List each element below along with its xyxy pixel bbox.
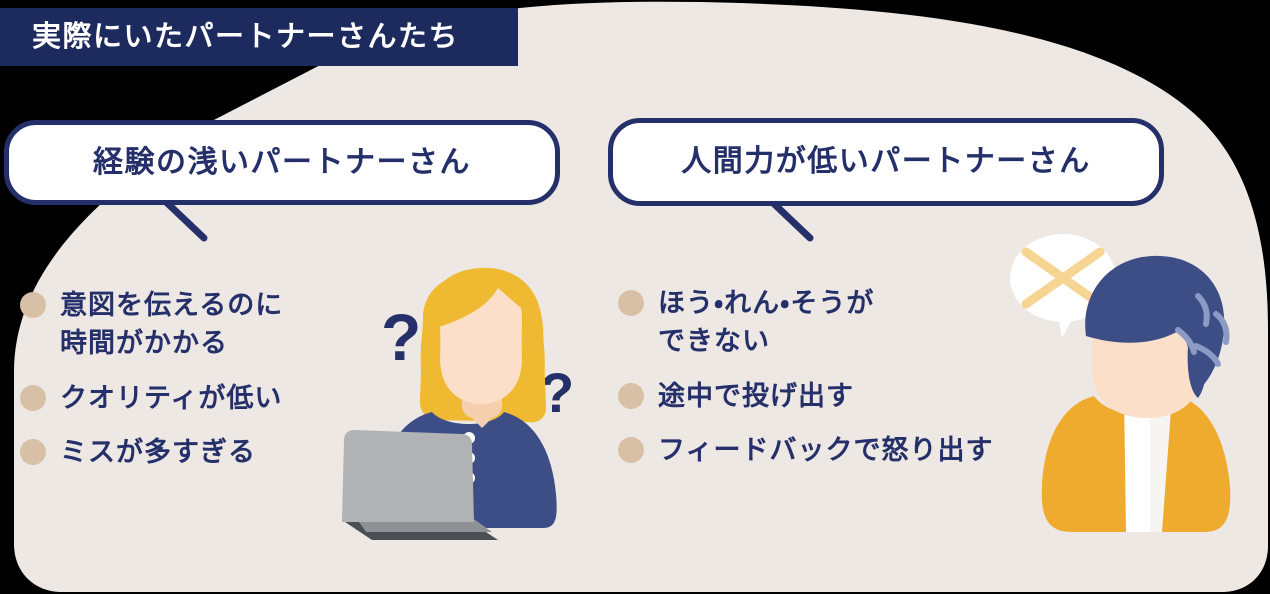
bullet-dot-icon <box>618 290 644 316</box>
list-item-text: ミスが多すぎる <box>60 433 256 471</box>
list-item-line: クオリティが低い <box>60 383 282 413</box>
list-item: フィードバックで怒り出す <box>618 431 1068 469</box>
bullet-list-right: ほう・れん・そうが できない 途中で投げ出す フィードバックで怒り出す <box>618 284 1068 485</box>
bullet-dot-icon <box>20 385 46 411</box>
bullet-list-left: 意図を伝えるのに 時間がかかる クオリティが低い ミスが多すぎる <box>20 286 350 487</box>
list-item-text: フィードバックで怒り出す <box>658 431 993 469</box>
list-item: ミスが多すぎる <box>20 433 350 471</box>
list-item-line: ミスが多すぎる <box>60 437 256 467</box>
bullet-dot-icon <box>618 437 644 463</box>
list-item-line: できない <box>658 322 874 360</box>
column-header-label: 人間力が低いパートナーさん <box>681 147 1091 177</box>
bullet-dot-icon <box>20 292 46 318</box>
bullet-dot-icon <box>20 439 46 465</box>
list-item: ほう・れん・そうが できない <box>618 284 1068 361</box>
list-item-line: フィードバックで怒り出す <box>658 435 993 465</box>
slide-canvas: ? ? <box>0 0 1270 594</box>
page-title: 実際にいたパートナーさんたち <box>0 23 459 52</box>
list-item: 途中で投げ出す <box>618 377 1068 415</box>
list-item-text: ほう・れん・そうが できない <box>658 284 874 361</box>
list-item-text: 途中で投げ出す <box>658 377 854 415</box>
column-header-bubble-right: 人間力が低いパートナーさん <box>608 118 1164 206</box>
list-item: 意図を伝えるのに 時間がかかる <box>20 286 350 363</box>
column-header-label: 経験の浅いパートナーさん <box>93 148 471 178</box>
list-item-line: ほう・れん・そうが <box>658 288 874 318</box>
list-item-line: 意図を伝えるのに <box>60 290 283 320</box>
list-item-line: 途中で投げ出す <box>658 381 854 411</box>
laptop-screen <box>342 430 474 522</box>
list-item-line: 時間がかかる <box>60 324 283 362</box>
slide-title-banner: 実際にいたパートナーさんたち <box>0 8 518 66</box>
list-item-text: クオリティが低い <box>60 379 282 417</box>
question-mark-icon: ? <box>381 300 421 374</box>
column-header-bubble-left: 経験の浅いパートナーさん <box>4 120 560 205</box>
list-item: クオリティが低い <box>20 379 350 417</box>
list-item-text: 意図を伝えるのに 時間がかかる <box>60 286 283 363</box>
bullet-dot-icon <box>618 383 644 409</box>
